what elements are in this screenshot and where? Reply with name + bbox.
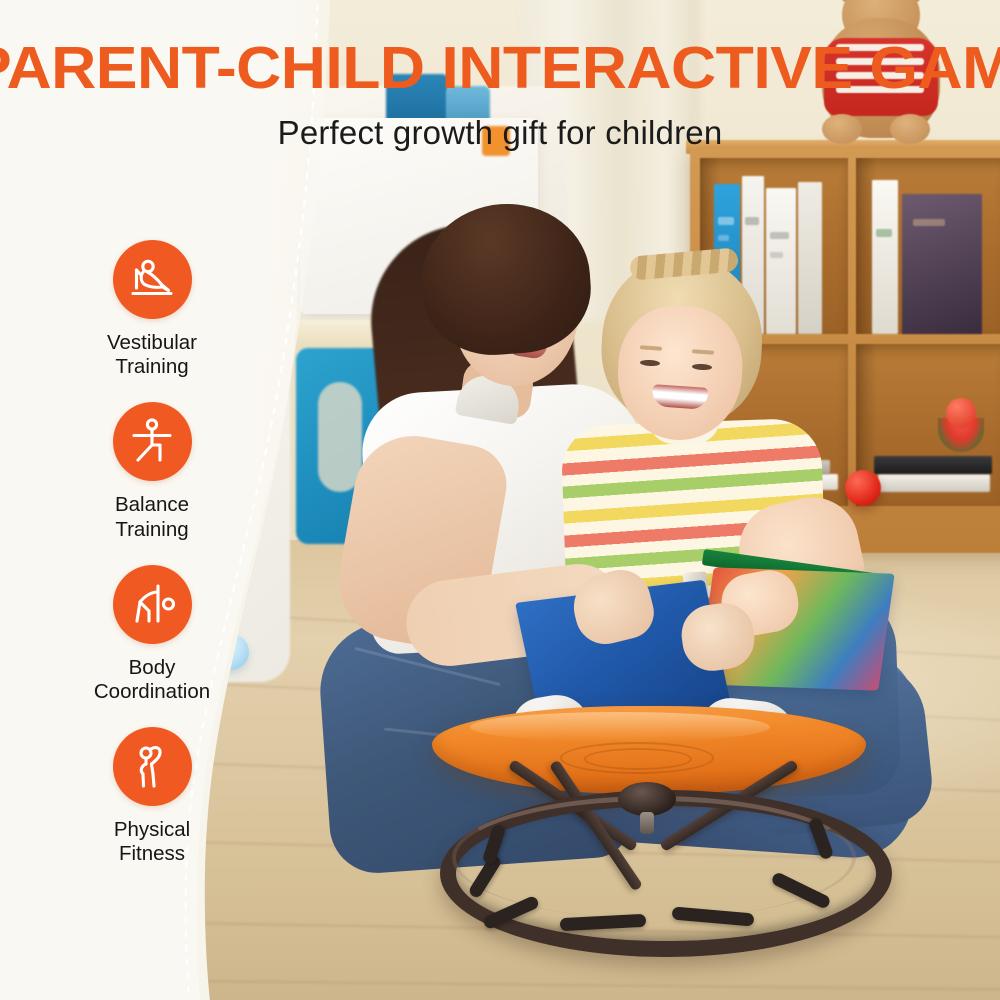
stretching-person-icon [113, 727, 192, 806]
feature-list: Vestibular Training Balance Training [62, 240, 242, 890]
feature-balance-training[interactable]: Balance Training [62, 402, 242, 541]
feature-label: Body Coordination [62, 656, 242, 704]
page-title: PARENT-CHILD INTERACTIVE GAMES [0, 34, 1000, 102]
feature-physical-fitness[interactable]: Physical Fitness [62, 727, 242, 866]
strawberry-toy-top [946, 398, 976, 428]
feature-label: Balance Training [62, 493, 242, 541]
seat-inner-ring-2 [584, 748, 692, 770]
bending-person-with-ball-icon [113, 565, 192, 644]
feature-vestibular-training[interactable]: Vestibular Training [62, 240, 242, 379]
page-subtitle: Perfect growth gift for children [0, 114, 1000, 152]
seat-highlight [470, 712, 770, 742]
balance-pose-person-icon [113, 402, 192, 481]
feature-label: Physical Fitness [62, 818, 242, 866]
swivel-hub [618, 782, 676, 816]
feature-label: Vestibular Training [62, 331, 242, 379]
sit-up-person-icon [113, 240, 192, 319]
product-marketing-banner: PARENT-CHILD INTERACTIVE GAMES Perfect g… [0, 0, 1000, 1000]
swivel-pin [640, 812, 654, 834]
feature-body-coordination[interactable]: Body Coordination [62, 565, 242, 704]
